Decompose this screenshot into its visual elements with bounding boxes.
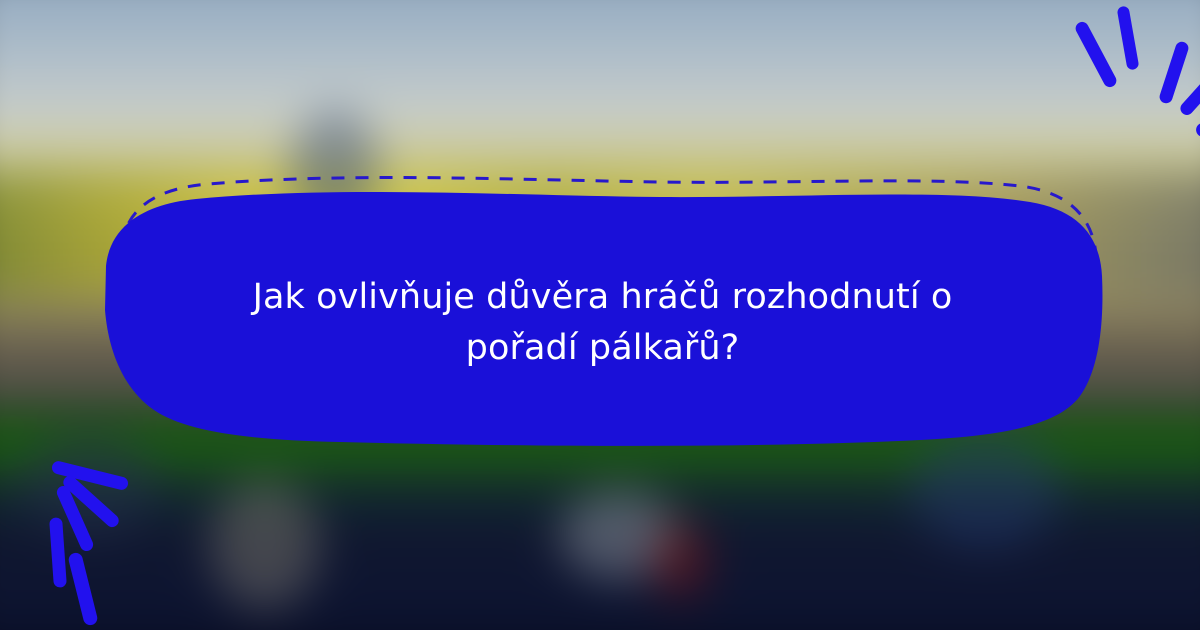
starburst-ray <box>49 517 67 588</box>
starburst-ray <box>67 552 98 627</box>
social-card: Jak ovlivňuje důvěra hráčů rozhodnutí o … <box>0 0 1200 630</box>
starburst-bottom-left <box>0 0 1200 630</box>
